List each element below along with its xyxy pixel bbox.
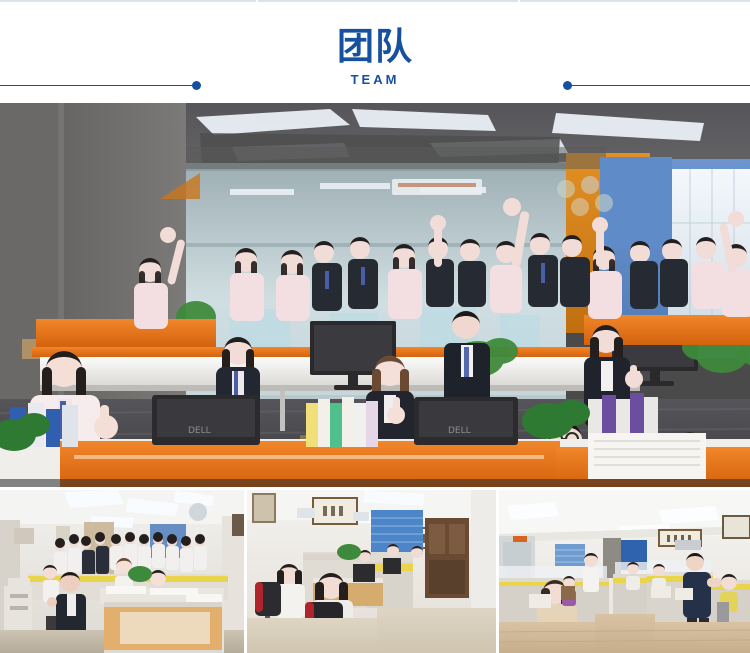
photo-strip xyxy=(0,490,750,653)
team-group-photo: DELL DELL xyxy=(0,103,750,487)
team-section-page: 团队 TEAM xyxy=(0,0,750,653)
page-subtitle: TEAM xyxy=(0,67,750,87)
page-title: 团队 xyxy=(0,0,750,67)
open-office-photo xyxy=(499,490,750,653)
rule-right xyxy=(567,85,750,86)
rule-dot-left xyxy=(192,81,201,90)
rule-dot-right xyxy=(563,81,572,90)
cubicle-workspace-photo xyxy=(247,490,496,653)
rule-left xyxy=(0,85,196,86)
title-block: 团队 TEAM xyxy=(0,0,750,87)
svg-text:DELL: DELL xyxy=(448,426,471,436)
reception-office-photo xyxy=(0,490,244,653)
section-header: 团队 TEAM xyxy=(0,0,750,103)
svg-text:DELL: DELL xyxy=(188,426,211,436)
